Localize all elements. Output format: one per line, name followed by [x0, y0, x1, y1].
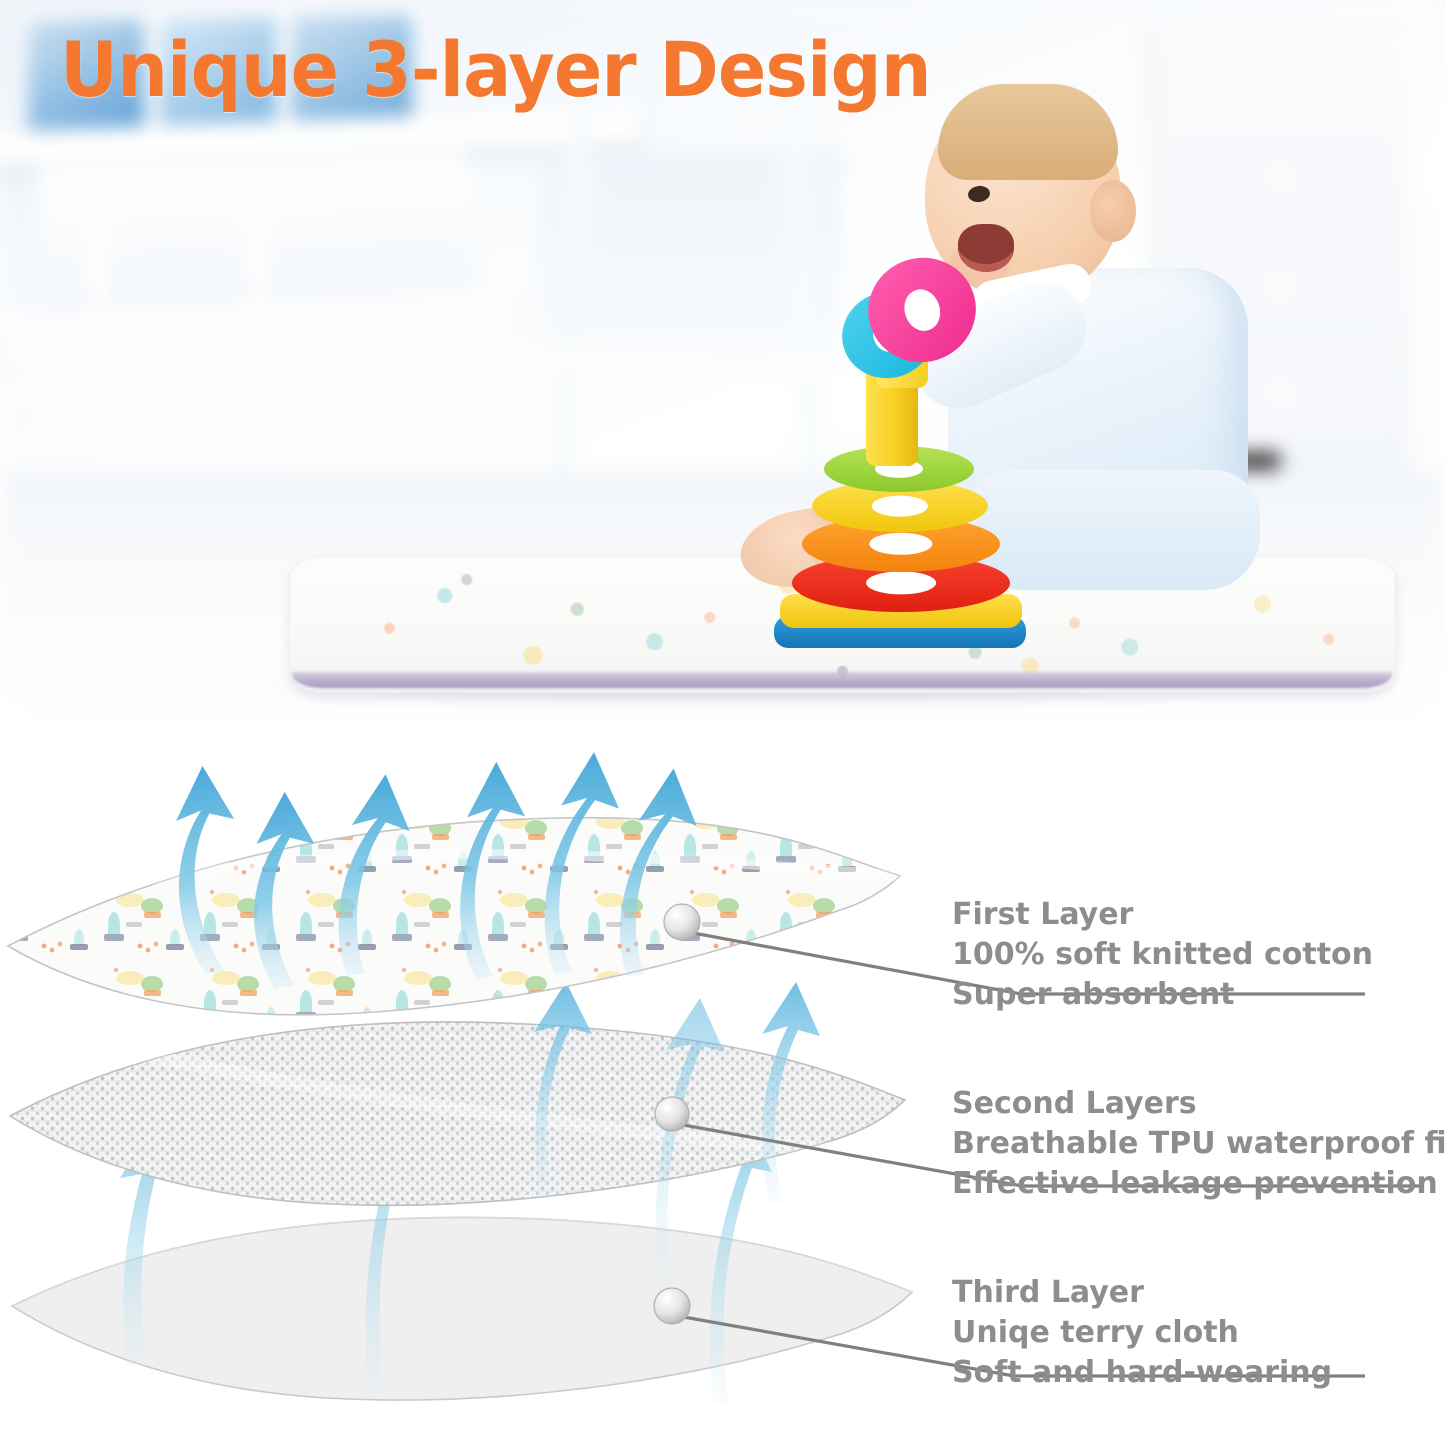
- layer-3-heading: Third Layer: [952, 1273, 1332, 1313]
- layer-3-label: Third Layer Uniqe terry cloth Soft and h…: [952, 1273, 1332, 1393]
- connector-dot-1: [664, 904, 700, 940]
- layer-1-label: First Layer 100% soft knitted cotton Sup…: [952, 895, 1373, 1015]
- changing-mat-edge-binding: [292, 672, 1392, 688]
- layer-2-line3: Effective leakage prevention: [952, 1164, 1445, 1204]
- layer-2-label: Second Layers Breathable TPU waterproof …: [952, 1084, 1445, 1204]
- layer-1-line2: 100% soft knitted cotton: [952, 935, 1373, 975]
- layer-1-swatch: [0, 818, 900, 1015]
- three-layer-diagram: First Layer 100% soft knitted cotton Sup…: [0, 726, 1445, 1445]
- layer-2-heading: Second Layers: [952, 1084, 1445, 1124]
- layer-3-swatch: [12, 1217, 912, 1400]
- layer-1-heading: First Layer: [952, 895, 1373, 935]
- layer-3-line2: Uniqe terry cloth: [952, 1313, 1332, 1353]
- layer-3-line3: Soft and hard-wearing: [952, 1353, 1332, 1393]
- page-title: Unique 3-layer Design: [60, 28, 931, 112]
- baby-ear: [1090, 180, 1136, 242]
- baby-hair: [938, 84, 1118, 180]
- hero-photo: Unique 3-layer Design: [0, 0, 1445, 722]
- infographic-root: Unique 3-layer Design: [0, 0, 1445, 1445]
- chair-slat-1: [90, 170, 104, 310]
- chair-slat-2: [250, 168, 264, 310]
- connector-dot-3: [654, 1288, 690, 1324]
- layer-2-line2: Breathable TPU waterproof film: [952, 1124, 1445, 1164]
- layer-1-line3: Super absorbent: [952, 975, 1373, 1015]
- stacking-ring-toy: [780, 250, 1040, 650]
- connector-dot-2: [655, 1097, 689, 1131]
